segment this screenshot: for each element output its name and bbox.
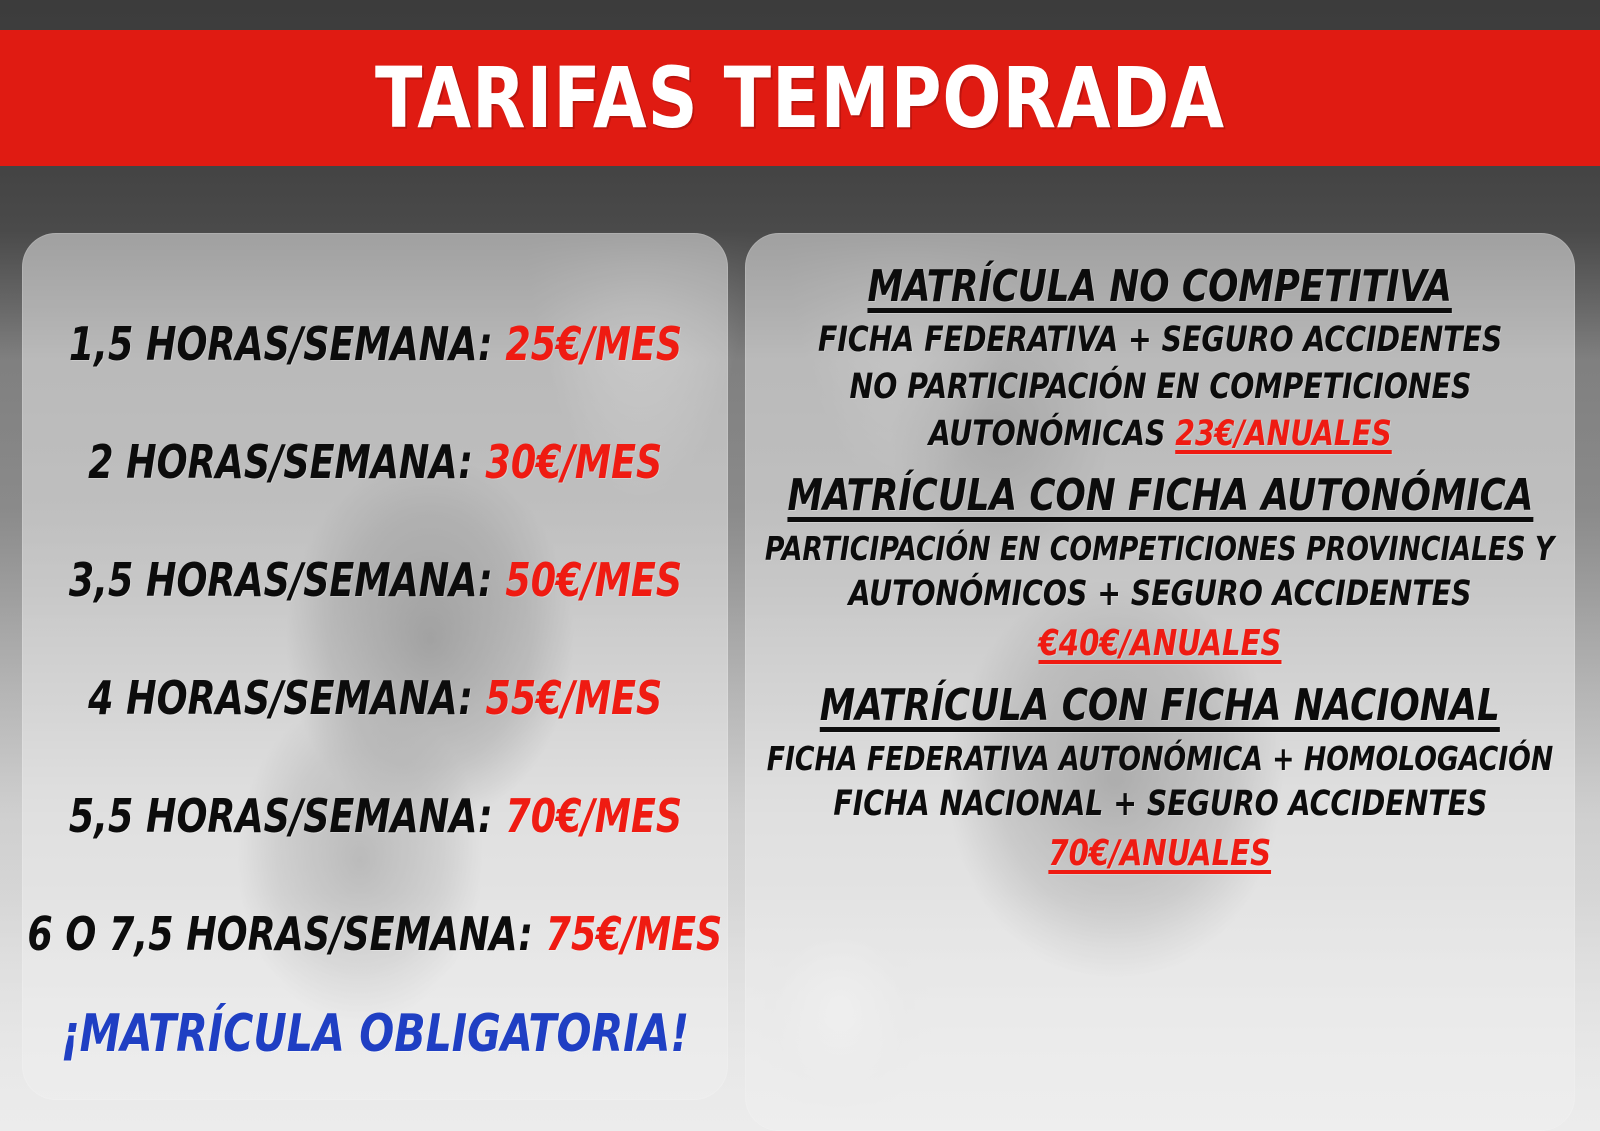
- rate-text: 5,5 HORAS/SEMANA: 70€/MES: [68, 793, 681, 839]
- rate-price: 75€/MES: [546, 907, 723, 961]
- rate-price: 70€/MES: [505, 789, 682, 843]
- enrollment-section: MATRÍCULA CON FICHA NACIONAL FICHA FEDER…: [745, 674, 1575, 878]
- section-line-with-amount: AUTONÓMICAS 23€/ANUALES: [928, 417, 1391, 452]
- section-line: FICHA NACIONAL + SEGURO ACCIDENTES: [833, 787, 1487, 822]
- rate-hours: 1,5 HORAS/SEMANA:: [68, 317, 492, 371]
- rate-price: 25€/MES: [505, 317, 682, 371]
- section-line-prefix: AUTONÓMICAS: [928, 414, 1175, 454]
- enrollment-section: MATRÍCULA CON FICHA AUTONÓMICA PARTICIPA…: [745, 464, 1575, 668]
- rate-text: 6 O 7,5 HORAS/SEMANA: 75€/MES: [28, 911, 723, 957]
- enrollment-sections: MATRÍCULA NO COMPETITIVA FICHA FEDERATIV…: [745, 255, 1575, 878]
- rate-row: 6 O 7,5 HORAS/SEMANA: 75€/MES: [22, 875, 728, 993]
- rate-hours: 4 HORAS/SEMANA:: [88, 671, 473, 725]
- section-line: NO PARTICIPACIÓN EN COMPETICIONES: [849, 370, 1471, 405]
- rate-hours: 6 O 7,5 HORAS/SEMANA:: [28, 907, 534, 961]
- section-heading: MATRÍCULA CON FICHA AUTONÓMICA: [787, 474, 1533, 518]
- rates-list: 1,5 HORAS/SEMANA: 25€/MES 2 HORAS/SEMANA…: [22, 285, 728, 993]
- rate-row: 4 HORAS/SEMANA: 55€/MES: [22, 639, 728, 757]
- mandatory-enrollment-note-wrap: ¡MATRÍCULA OBLIGATORIA!: [22, 1008, 728, 1060]
- section-amount: 23€/ANUALES: [1175, 414, 1392, 454]
- rate-hours: 5,5 HORAS/SEMANA:: [68, 789, 492, 843]
- section-heading: MATRÍCULA NO COMPETITIVA: [868, 265, 1452, 309]
- enrollment-panel: MATRÍCULA NO COMPETITIVA FICHA FEDERATIV…: [745, 233, 1575, 1131]
- section-line: FICHA FEDERATIVA AUTONÓMICA + HOMOLOGACI…: [767, 742, 1554, 775]
- rate-price: 30€/MES: [485, 435, 662, 489]
- rate-price: 55€/MES: [485, 671, 662, 725]
- section-line: PARTICIPACIÓN EN COMPETICIONES PROVINCIA…: [765, 532, 1554, 565]
- section-amount: €40€/ANUALES: [1038, 626, 1281, 662]
- section-heading: MATRÍCULA CON FICHA NACIONAL: [820, 684, 1500, 728]
- enrollment-section: MATRÍCULA NO COMPETITIVA FICHA FEDERATIV…: [745, 255, 1575, 458]
- poster-root: TARIFAS TEMPORADA 1,5 HORAS/SEMANA: 25€/…: [0, 0, 1600, 1131]
- rate-price: 50€/MES: [505, 553, 682, 607]
- rate-text: 3,5 HORAS/SEMANA: 50€/MES: [68, 557, 681, 603]
- rate-text: 1,5 HORAS/SEMANA: 25€/MES: [68, 321, 681, 367]
- rate-text: 4 HORAS/SEMANA: 55€/MES: [88, 675, 662, 721]
- rate-hours: 2 HORAS/SEMANA:: [88, 435, 473, 489]
- title-banner: TARIFAS TEMPORADA: [0, 30, 1600, 166]
- rate-text: 2 HORAS/SEMANA: 30€/MES: [88, 439, 662, 485]
- rate-row: 1,5 HORAS/SEMANA: 25€/MES: [22, 285, 728, 403]
- rates-panel: 1,5 HORAS/SEMANA: 25€/MES 2 HORAS/SEMANA…: [22, 233, 728, 1100]
- rate-row: 3,5 HORAS/SEMANA: 50€/MES: [22, 521, 728, 639]
- section-line: FICHA FEDERATIVA + SEGURO ACCIDENTES: [818, 323, 1502, 358]
- page-title: TARIFAS TEMPORADA: [375, 56, 1225, 140]
- rate-hours: 3,5 HORAS/SEMANA:: [68, 553, 492, 607]
- rate-row: 2 HORAS/SEMANA: 30€/MES: [22, 403, 728, 521]
- rate-row: 5,5 HORAS/SEMANA: 70€/MES: [22, 757, 728, 875]
- section-amount: 70€/ANUALES: [1049, 836, 1272, 872]
- section-line: AUTONÓMICOS + SEGURO ACCIDENTES: [849, 577, 1472, 612]
- mandatory-enrollment-note: ¡MATRÍCULA OBLIGATORIA!: [61, 1008, 689, 1060]
